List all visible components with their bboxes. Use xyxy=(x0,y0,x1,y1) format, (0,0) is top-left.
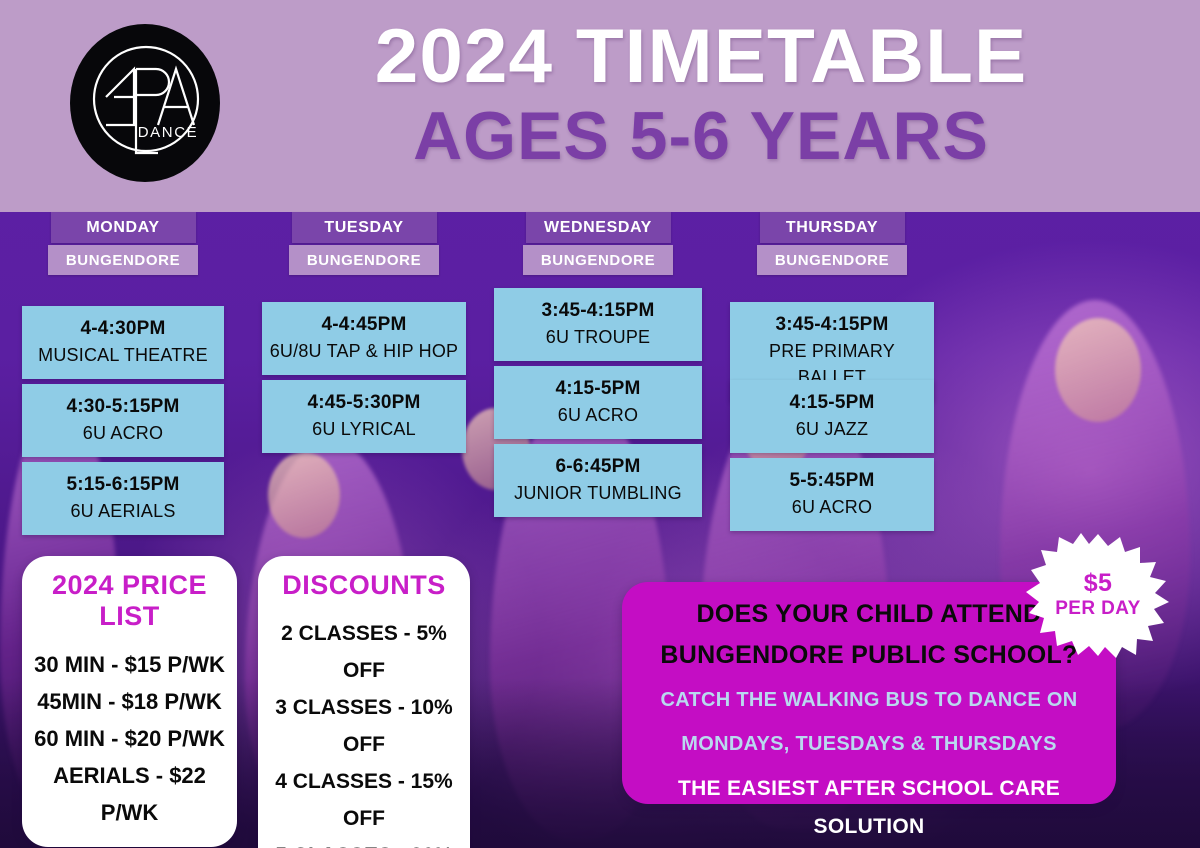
class-name: 6U AERIALS xyxy=(28,498,218,524)
class-time: 4:15-5PM xyxy=(500,376,696,402)
column-header: TUESDAY BUNGENDORE xyxy=(262,212,466,275)
price-list: 30 MIN - $15 P/WK 45MIN - $18 P/WK 60 MI… xyxy=(28,646,231,831)
day-column-monday: MONDAY BUNGENDORE 4-4:30PM MUSICAL THEAT… xyxy=(22,212,224,275)
class-time: 6-6:45PM xyxy=(500,454,696,480)
price-list-panel: 2024 PRICE LIST 30 MIN - $15 P/WK 45MIN … xyxy=(22,556,237,847)
column-header: WEDNESDAY BUNGENDORE xyxy=(494,212,702,275)
class-name: 6U/8U TAP & HIP HOP xyxy=(268,338,460,364)
title-block: 2024 TIMETABLE AGES 5-6 YEARS xyxy=(236,16,1166,174)
discounts-panel: DISCOUNTS 2 CLASSES - 5% OFF 3 CLASSES -… xyxy=(258,556,470,848)
location-chip: BUNGENDORE xyxy=(523,245,673,275)
promo-sub-line2: MONDAYS, TUESDAYS & THURSDAYS xyxy=(640,724,1098,764)
class-card[interactable]: 5:15-6:15PM 6U AERIALS xyxy=(22,462,224,535)
class-name: 6U LYRICAL xyxy=(268,416,460,442)
promo-tagline: THE EASIEST AFTER SCHOOL CARE SOLUTION xyxy=(640,770,1098,846)
class-time: 4-4:45PM xyxy=(268,312,460,338)
class-card[interactable]: 4-4:45PM 6U/8U TAP & HIP HOP xyxy=(262,302,466,375)
class-time: 4:30-5:15PM xyxy=(28,394,218,420)
day-column-thursday: THURSDAY BUNGENDORE 3:45-4:15PM PRE PRIM… xyxy=(730,212,934,275)
class-name: 6U TROUPE xyxy=(500,324,696,350)
list-item: 3 CLASSES - 10% OFF xyxy=(264,689,464,763)
class-name: 6U ACRO xyxy=(500,402,696,428)
day-chip: THURSDAY xyxy=(760,212,905,243)
badge-text: $5 PER DAY xyxy=(1024,532,1172,658)
discounts-heading: DISCOUNTS xyxy=(264,570,464,601)
class-time: 5-5:45PM xyxy=(736,468,928,494)
day-chip: WEDNESDAY xyxy=(526,212,671,243)
column-header: THURSDAY BUNGENDORE xyxy=(730,212,934,275)
class-name: 6U JAZZ xyxy=(736,416,928,442)
list-item: 30 MIN - $15 P/WK xyxy=(28,646,231,683)
class-card[interactable]: 4:45-5:30PM 6U LYRICAL xyxy=(262,380,466,453)
list-item: 5 CLASSES - 20% OFF xyxy=(264,837,464,848)
class-name: 6U ACRO xyxy=(736,494,928,520)
location-chip: BUNGENDORE xyxy=(289,245,439,275)
class-time: 3:45-4:15PM xyxy=(736,312,928,338)
column-header: MONDAY BUNGENDORE xyxy=(22,212,224,275)
price-badge: $5 PER DAY xyxy=(1024,532,1172,658)
timetable-grid: MONDAY BUNGENDORE 4-4:30PM MUSICAL THEAT… xyxy=(0,212,1200,552)
timetable-poster: DANCE 2024 TIMETABLE AGES 5-6 YEARS MOND… xyxy=(0,0,1200,848)
list-item: AERIALS - $22 P/WK xyxy=(28,757,231,831)
class-name: 6U ACRO xyxy=(28,420,218,446)
class-time: 4-4:30PM xyxy=(28,316,218,342)
list-item: 60 MIN - $20 P/WK xyxy=(28,720,231,757)
day-chip: TUESDAY xyxy=(292,212,437,243)
day-column-tuesday: TUESDAY BUNGENDORE 4-4:45PM 6U/8U TAP & … xyxy=(262,212,466,275)
class-time: 3:45-4:15PM xyxy=(500,298,696,324)
list-item: 45MIN - $18 P/WK xyxy=(28,683,231,720)
class-name: MUSICAL THEATRE xyxy=(28,342,218,368)
badge-unit: PER DAY xyxy=(1055,597,1141,621)
class-time: 4:15-5PM xyxy=(736,390,928,416)
page-subtitle: AGES 5-6 YEARS xyxy=(236,98,1166,174)
list-item: 4 CLASSES - 15% OFF xyxy=(264,763,464,837)
class-card[interactable]: 4:15-5PM 6U ACRO xyxy=(494,366,702,439)
class-card[interactable]: 5-5:45PM 6U ACRO xyxy=(730,458,934,531)
logo-mark-icon: DANCE xyxy=(80,35,210,171)
location-chip: BUNGENDORE xyxy=(48,245,198,275)
class-card[interactable]: 3:45-4:15PM 6U TROUPE xyxy=(494,288,702,361)
class-time: 4:45-5:30PM xyxy=(268,390,460,416)
class-time: 5:15-6:15PM xyxy=(28,472,218,498)
class-card[interactable]: 4:15-5PM 6U JAZZ xyxy=(730,380,934,453)
class-card[interactable]: 4-4:30PM MUSICAL THEATRE xyxy=(22,306,224,379)
epa-dance-logo: DANCE xyxy=(70,24,220,182)
svg-text:DANCE: DANCE xyxy=(138,124,199,141)
class-card[interactable]: 4:30-5:15PM 6U ACRO xyxy=(22,384,224,457)
badge-price: $5 xyxy=(1084,569,1113,597)
promo-sub-line1: CATCH THE WALKING BUS TO DANCE ON xyxy=(640,680,1098,720)
day-chip: MONDAY xyxy=(51,212,196,243)
class-name: JUNIOR TUMBLING xyxy=(500,480,696,506)
page-title: 2024 TIMETABLE xyxy=(222,16,1180,98)
list-item: 2 CLASSES - 5% OFF xyxy=(264,615,464,689)
class-card[interactable]: 6-6:45PM JUNIOR TUMBLING xyxy=(494,444,702,517)
price-list-heading: 2024 PRICE LIST xyxy=(28,570,231,632)
poster-header: DANCE 2024 TIMETABLE AGES 5-6 YEARS xyxy=(0,0,1200,212)
location-chip: BUNGENDORE xyxy=(757,245,907,275)
discount-list: 2 CLASSES - 5% OFF 3 CLASSES - 10% OFF 4… xyxy=(264,615,464,848)
day-column-wednesday: WEDNESDAY BUNGENDORE 3:45-4:15PM 6U TROU… xyxy=(494,212,702,275)
